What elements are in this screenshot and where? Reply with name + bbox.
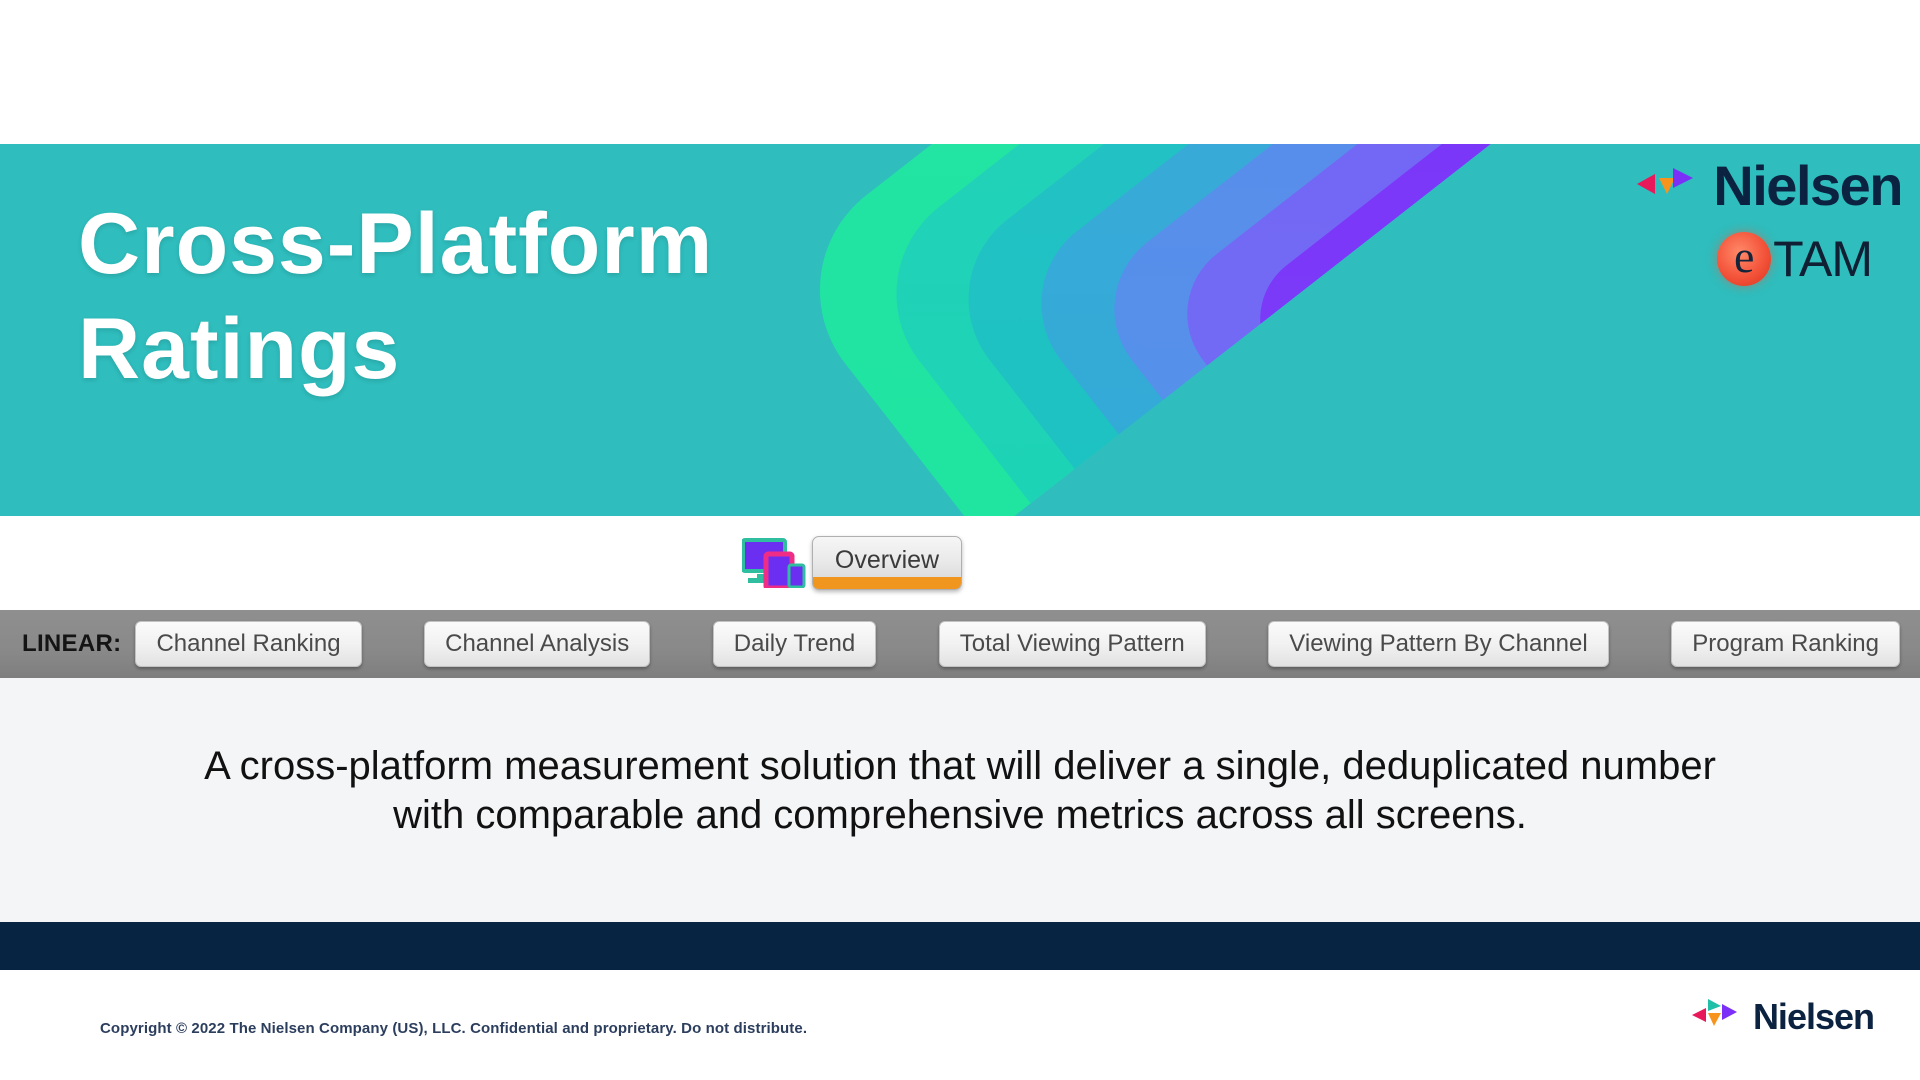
nielsen-triangles-icon-footer (1691, 998, 1743, 1035)
etam-wordmark: TAM (1773, 234, 1872, 284)
etam-logo: e TAM (1717, 232, 1872, 286)
hero-title: Cross-Platform Ratings (78, 192, 978, 402)
nielsen-logo-footer: Nielsen (1691, 998, 1874, 1035)
hero-title-line-1: Cross-Platform (78, 196, 713, 292)
linear-button-group: Channel Ranking Channel Analysis Daily T… (135, 621, 1908, 666)
etam-circle-icon: e (1717, 232, 1771, 286)
hero-title-line-2: Ratings (78, 297, 978, 402)
tab-overview-label: Overview (835, 546, 939, 574)
linear-btn-viewing-pattern-by-channel[interactable]: Viewing Pattern By Channel (1268, 621, 1608, 666)
content-area: A cross-platform measurement solution th… (0, 678, 1920, 922)
nielsen-wordmark-footer: Nielsen (1753, 999, 1874, 1035)
linear-btn-program-ranking[interactable]: Program Ranking (1671, 621, 1900, 666)
etam-letter-e: e (1734, 234, 1754, 280)
nielsen-logo-hero: Nielsen (1635, 158, 1902, 214)
linear-btn-channel-analysis[interactable]: Channel Analysis (424, 621, 650, 666)
linear-toolbar: LINEAR: Channel Ranking Channel Analysis… (0, 610, 1920, 678)
app-page: Cross-Platform Ratings Nielsen e TAM (0, 0, 1920, 1080)
overview-tab-strip: Overview (0, 516, 1920, 610)
linear-label: LINEAR: (12, 630, 121, 658)
hero-banner: Cross-Platform Ratings Nielsen e TAM (0, 144, 1920, 516)
footer-copyright: Copyright © 2022 The Nielsen Company (US… (100, 1020, 807, 1037)
page-footer: Copyright © 2022 The Nielsen Company (US… (0, 970, 1920, 1080)
top-white-spacer (0, 0, 1920, 144)
linear-btn-channel-ranking[interactable]: Channel Ranking (135, 621, 361, 666)
devices-icon (742, 538, 806, 588)
nielsen-triangles-icon (1635, 164, 1701, 209)
navy-divider-bar (0, 922, 1920, 970)
nielsen-wordmark-hero: Nielsen (1713, 158, 1902, 214)
tab-overview[interactable]: Overview (812, 536, 962, 590)
content-description: A cross-platform measurement solution th… (200, 742, 1720, 840)
linear-btn-total-viewing-pattern[interactable]: Total Viewing Pattern (939, 621, 1206, 666)
overview-group: Overview (742, 536, 962, 590)
linear-btn-daily-trend[interactable]: Daily Trend (713, 621, 876, 666)
